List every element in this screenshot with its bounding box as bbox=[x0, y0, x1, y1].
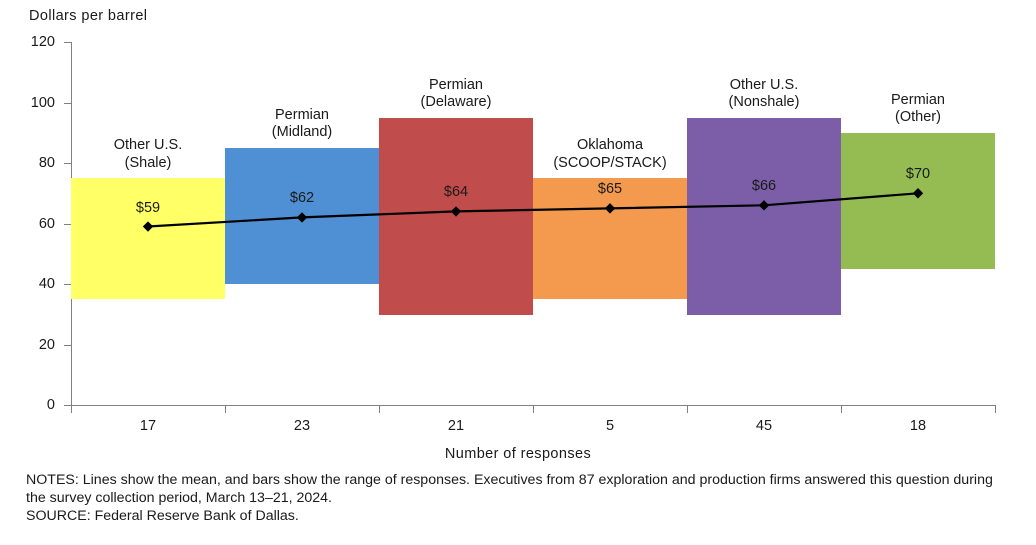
x-axis-title: Number of responses bbox=[0, 446, 1036, 462]
chart-container: Dollars per barrel 020406080100120 17232… bbox=[0, 0, 1036, 545]
y-tick-mark bbox=[64, 42, 71, 43]
category-label: Permian (Delaware) bbox=[361, 77, 551, 112]
mean-value-label: $59 bbox=[88, 201, 208, 216]
mean-marker bbox=[297, 212, 307, 222]
mean-marker bbox=[451, 206, 461, 216]
y-tick-label: 20 bbox=[11, 338, 55, 353]
mean-value-label: $65 bbox=[550, 182, 670, 197]
y-tick-label: 0 bbox=[11, 398, 55, 413]
x-tick-mark bbox=[71, 406, 72, 413]
mean-value-label: $64 bbox=[396, 185, 516, 200]
x-tick-label: 5 bbox=[533, 419, 687, 434]
mean-marker bbox=[759, 200, 769, 210]
category-label: Permian (Other) bbox=[823, 92, 1013, 127]
y-tick-mark bbox=[64, 345, 71, 346]
x-tick-mark bbox=[995, 406, 996, 413]
x-tick-mark bbox=[533, 406, 534, 413]
x-tick-mark bbox=[687, 406, 688, 413]
x-tick-mark bbox=[225, 406, 226, 413]
y-tick-mark bbox=[64, 103, 71, 104]
mean-value-label: $70 bbox=[858, 167, 978, 182]
mean-marker bbox=[605, 203, 615, 213]
mean-value-label: $62 bbox=[242, 191, 362, 206]
y-tick-label: 80 bbox=[11, 156, 55, 171]
category-label: Other U.S. (Shale) bbox=[53, 137, 243, 172]
x-tick-mark bbox=[379, 406, 380, 413]
notes-text: NOTES: Lines show the mean, and bars sho… bbox=[26, 471, 1016, 507]
y-tick-label: 40 bbox=[11, 277, 55, 292]
x-tick-label: 45 bbox=[687, 419, 841, 434]
footnotes: NOTES: Lines show the mean, and bars sho… bbox=[26, 471, 1016, 526]
y-tick-label: 100 bbox=[11, 96, 55, 111]
mean-value-label: $66 bbox=[704, 179, 824, 194]
category-label: Oklahoma (SCOOP/STACK) bbox=[515, 137, 705, 172]
x-tick-label: 21 bbox=[379, 419, 533, 434]
source-text: SOURCE: Federal Reserve Bank of Dallas. bbox=[26, 507, 1016, 525]
y-tick-mark bbox=[64, 405, 71, 406]
x-tick-label: 17 bbox=[71, 419, 225, 434]
mean-marker bbox=[143, 221, 153, 231]
y-tick-mark bbox=[64, 284, 71, 285]
x-tick-label: 18 bbox=[841, 419, 995, 434]
y-axis-title: Dollars per barrel bbox=[29, 8, 147, 24]
mean-marker bbox=[913, 188, 923, 198]
y-tick-mark bbox=[64, 224, 71, 225]
y-tick-label: 120 bbox=[11, 35, 55, 50]
x-tick-label: 23 bbox=[225, 419, 379, 434]
x-tick-mark bbox=[841, 406, 842, 413]
y-tick-label: 60 bbox=[11, 217, 55, 232]
category-label: Permian (Midland) bbox=[207, 107, 397, 142]
